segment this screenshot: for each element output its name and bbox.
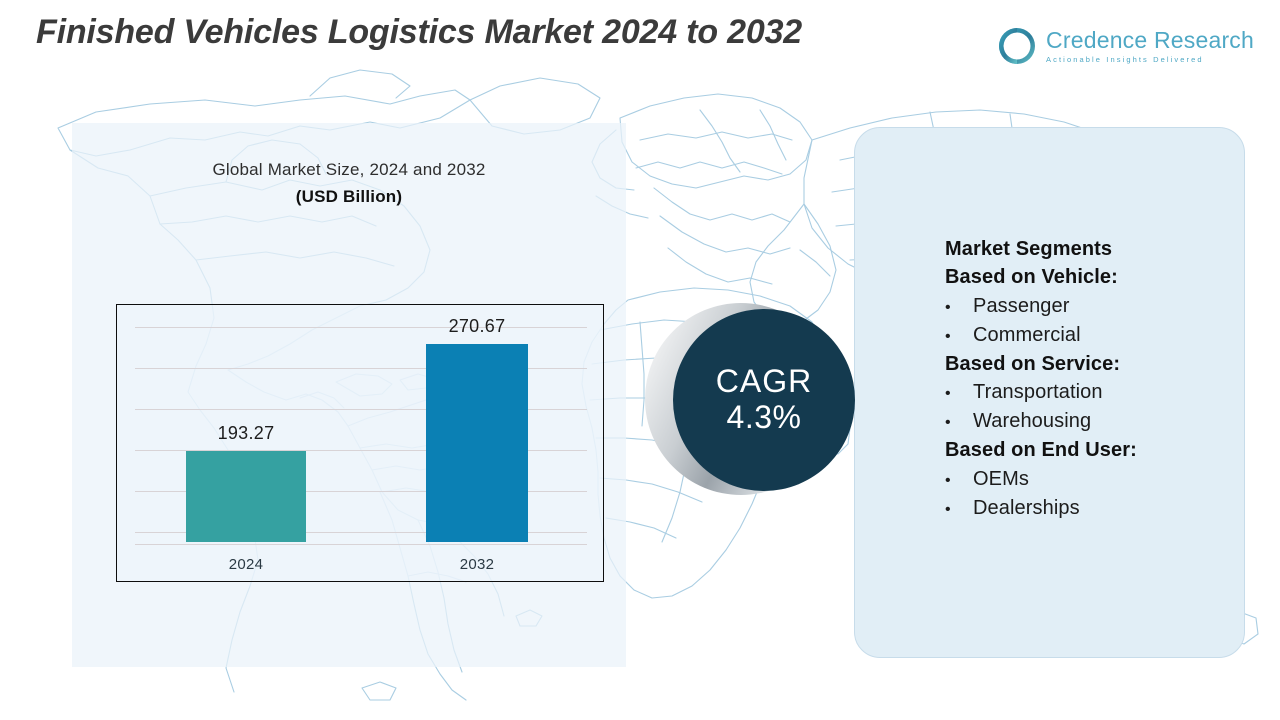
bullet-icon: • xyxy=(945,411,973,434)
segment-item-dealerships: • Dealerships xyxy=(945,494,1245,523)
segment-heading-service: Based on Service: xyxy=(945,350,1245,378)
chart-title-unit: (USD Billion) xyxy=(72,187,626,207)
bullet-icon: • xyxy=(945,296,973,319)
brand-tagline: Actionable Insights Delivered xyxy=(1046,56,1254,64)
segment-item-passenger: • Passenger xyxy=(945,292,1245,321)
segment-item-commercial: • Commercial xyxy=(945,321,1245,350)
x-axis-label-2024: 2024 xyxy=(186,556,306,573)
bar-value-2032: 270.67 xyxy=(417,316,537,337)
segment-item-label: Transportation xyxy=(973,378,1103,407)
gridline-baseline xyxy=(135,544,587,545)
cagr-badge: CAGR 4.3% xyxy=(645,303,860,518)
segment-item-label: Dealerships xyxy=(973,494,1080,523)
brand-logo: Credence Research Actionable Insights De… xyxy=(997,26,1254,66)
chart-title-primary: Global Market Size, 2024 and 2032 xyxy=(72,160,626,180)
market-segments-panel: Market Segments Based on Vehicle: • Pass… xyxy=(854,127,1245,658)
brand-name: Credence Research xyxy=(1046,29,1254,52)
bar-2024 xyxy=(186,451,306,542)
segment-heading-vehicle: Based on Vehicle: xyxy=(945,263,1245,291)
segment-item-transportation: • Transportation xyxy=(945,378,1245,407)
bullet-icon: • xyxy=(945,498,973,521)
cagr-label: CAGR xyxy=(716,365,812,399)
segment-item-oems: • OEMs xyxy=(945,465,1245,494)
cagr-value: 4.3% xyxy=(727,401,802,435)
bullet-icon: • xyxy=(945,469,973,492)
segment-item-label: Passenger xyxy=(973,292,1070,321)
chart-panel: Global Market Size, 2024 and 2032 (USD B… xyxy=(72,123,626,667)
bullet-icon: • xyxy=(945,325,973,348)
segments-title: Market Segments xyxy=(945,235,1245,263)
bar-2032 xyxy=(426,344,528,542)
bar-chart-plot-area: 193.27 270.67 2024 2032 xyxy=(116,304,604,582)
segment-heading-end-user: Based on End User: xyxy=(945,436,1245,464)
segment-item-label: Warehousing xyxy=(973,407,1091,436)
bullet-icon: • xyxy=(945,382,973,405)
bar-chart-circle-logo-icon xyxy=(997,26,1037,66)
cagr-circle: CAGR 4.3% xyxy=(673,309,855,491)
bar-value-2024: 193.27 xyxy=(186,423,306,444)
segment-item-label: Commercial xyxy=(973,321,1081,350)
page-title: Finished Vehicles Logistics Market 2024 … xyxy=(36,13,802,52)
segment-item-label: OEMs xyxy=(973,465,1029,494)
segment-item-warehousing: • Warehousing xyxy=(945,407,1245,436)
x-axis-label-2032: 2032 xyxy=(417,556,537,573)
